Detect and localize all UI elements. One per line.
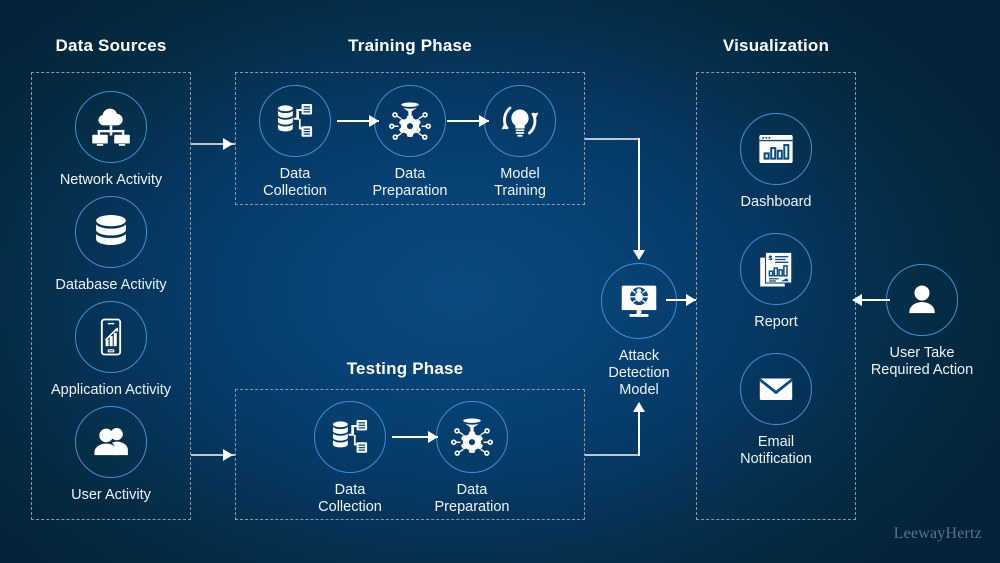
node-email-notification[interactable]: Email Notification <box>706 353 846 468</box>
node-dashboard[interactable]: Dashboard <box>706 113 846 211</box>
node-label: Database Activity <box>41 277 181 294</box>
node-label: Report <box>706 314 846 331</box>
user-icon <box>886 264 958 336</box>
node-label: Dashboard <box>706 194 846 211</box>
node-label: Model Training <box>450 166 590 200</box>
node-label: Email Notification <box>706 434 846 468</box>
node-report[interactable]: $ Report <box>706 233 846 331</box>
svg-text:$: $ <box>768 254 773 262</box>
mobile-chart-icon <box>75 301 147 373</box>
node-user-activity[interactable]: User Activity <box>41 406 181 504</box>
column-title-training-phase: Training Phase <box>235 36 585 56</box>
node-attack-detection-model[interactable]: Attack Detection Model <box>569 263 709 399</box>
users-icon <box>75 406 147 478</box>
node-testing-data-collection[interactable]: Data Collection <box>280 401 420 516</box>
node-label: Data Collection <box>280 482 420 516</box>
node-user-take-required-action[interactable]: User Take Required Action <box>852 264 992 379</box>
arrowhead-model-to-visualization <box>686 294 696 306</box>
network-cloud-icon <box>75 91 147 163</box>
database-icon <box>75 196 147 268</box>
arrowhead-sources-to-testing <box>223 449 233 461</box>
node-model-training[interactable]: Model Training <box>450 85 590 200</box>
arrowhead-training-to-model <box>633 250 645 260</box>
arrowhead-testing-to-model <box>633 402 645 412</box>
data-collection-icon <box>259 85 331 157</box>
model-training-icon <box>484 85 556 157</box>
node-label: Network Activity <box>41 172 181 189</box>
node-label: User Activity <box>41 487 181 504</box>
node-network-activity[interactable]: Network Activity <box>41 91 181 189</box>
node-label: User Take Required Action <box>852 345 992 379</box>
attack-detection-icon <box>601 263 677 339</box>
arrowhead-testing-collection-preparation <box>428 431 438 443</box>
connector-testing-to-model-horizontal <box>585 454 640 456</box>
column-title-data-sources: Data Sources <box>31 36 191 56</box>
connector-training-to-model-vertical <box>638 138 640 254</box>
arrowhead-sources-to-training <box>223 138 233 150</box>
column-title-visualization: Visualization <box>696 36 856 56</box>
arrowhead-user-to-visualization <box>852 294 862 306</box>
node-label: Attack Detection Model <box>569 348 709 399</box>
data-collection-icon <box>314 401 386 473</box>
dashboard-icon <box>740 113 812 185</box>
connector-testing-to-model-vertical <box>638 410 640 456</box>
data-preparation-icon <box>374 85 446 157</box>
watermark-leewayhertz: LeewayHertz <box>894 525 982 543</box>
column-title-testing-phase: Testing Phase <box>235 359 575 379</box>
node-testing-data-preparation[interactable]: Data Preparation <box>402 401 542 516</box>
connector-training-to-model-horizontal <box>585 138 640 140</box>
arrowhead-training-preparation-model <box>479 115 489 127</box>
arrowhead-training-collection-preparation <box>369 115 379 127</box>
node-application-activity[interactable]: Application Activity <box>41 301 181 399</box>
node-database-activity[interactable]: Database Activity <box>41 196 181 294</box>
node-label: Application Activity <box>41 382 181 399</box>
architecture-diagram: Data Sources Training Phase Visualizatio… <box>0 0 1000 563</box>
report-icon: $ <box>740 233 812 305</box>
node-label: Data Preparation <box>402 482 542 516</box>
data-preparation-icon <box>436 401 508 473</box>
email-icon <box>740 353 812 425</box>
